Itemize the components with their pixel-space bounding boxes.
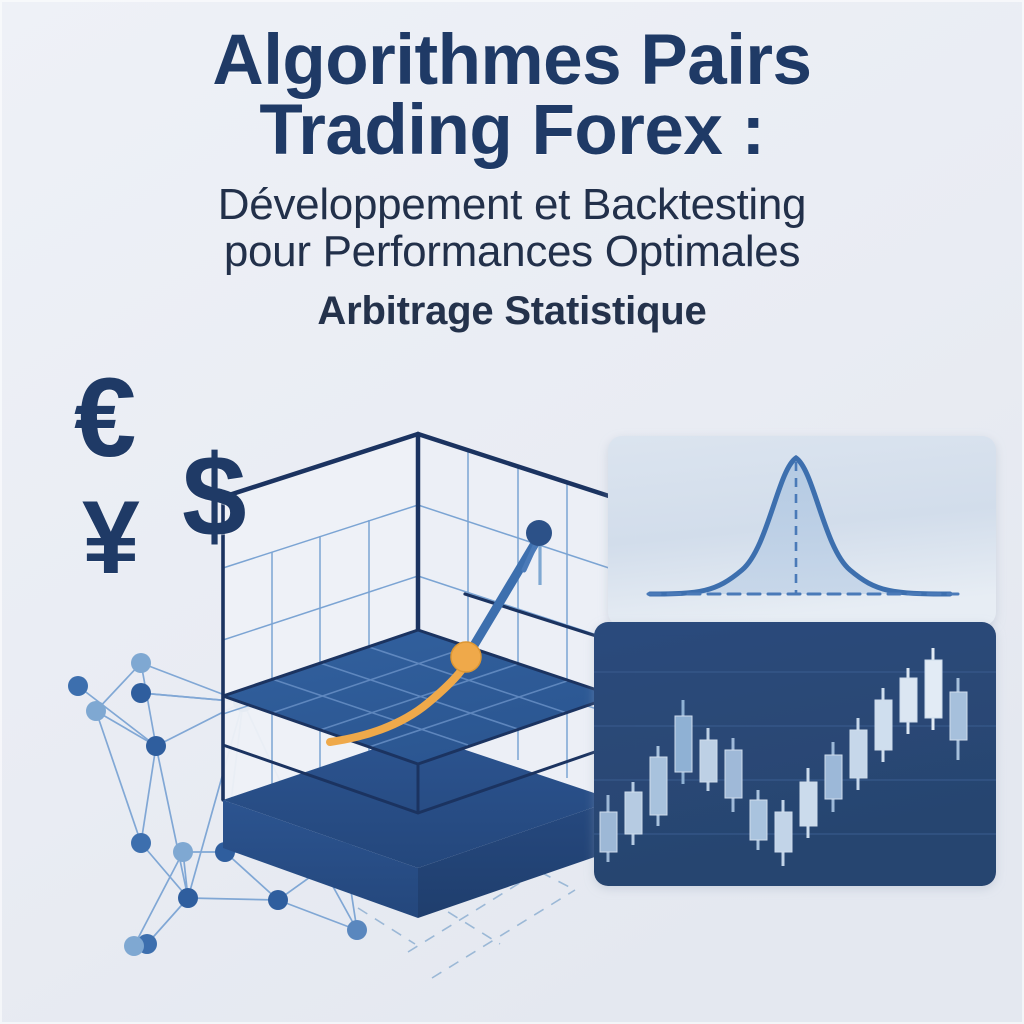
entry-point-marker [451,642,481,672]
dollar-icon: $ [182,438,247,554]
poster-title: Algorithmes Pairs Trading Forex : [0,26,1024,165]
candle [650,746,667,826]
euro-icon: € [74,362,136,474]
subtitle-line-2: pour Performances Optimales [60,228,964,275]
poster-canvas: € $ ¥ Algorithmes Pairs Trading Forex : … [0,0,1024,1024]
poster-tagline: Arbitrage Statistique [0,289,1024,334]
title-line-2: Trading Forex : [40,96,984,166]
subtitle-line-1: Développement et Backtesting [218,180,806,229]
isometric-3d-chart [223,434,615,918]
exit-point-marker [526,520,552,546]
poster-headings: Algorithmes Pairs Trading Forex : Dévelo… [0,26,1024,334]
title-line-1: Algorithmes Pairs [212,21,811,100]
yen-icon: ¥ [82,486,140,590]
poster-subtitle: Développement et Backtesting pour Perfor… [0,181,1024,275]
candle [925,648,942,730]
